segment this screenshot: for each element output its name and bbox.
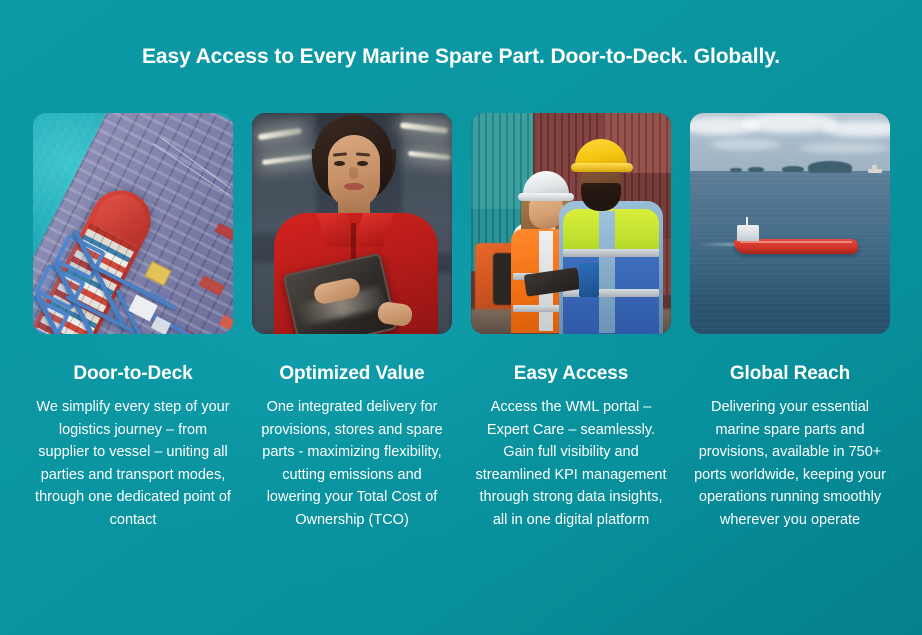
card-title: Easy Access	[514, 362, 628, 386]
card-body: One integrated delivery for provisions, …	[254, 396, 450, 531]
card-body: We simplify every step of your logistics…	[35, 396, 231, 531]
woman-with-tablet-image	[252, 113, 452, 334]
card-body: Access the WML portal – Expert Care – se…	[473, 396, 669, 531]
card-title: Global Reach	[730, 362, 850, 386]
feature-card: Optimized Value One integrated delivery …	[252, 113, 452, 531]
page-title: Easy Access to Every Marine Spare Part. …	[0, 43, 922, 71]
feature-section: Easy Access to Every Marine Spare Part. …	[0, 0, 922, 635]
feature-card: Easy Access Access the WML portal – Expe…	[471, 113, 671, 531]
card-title: Door-to-Deck	[73, 362, 192, 386]
card-title: Optimized Value	[279, 362, 424, 386]
card-body: Delivering your essential marine spare p…	[692, 396, 888, 531]
feature-card: Global Reach Delivering your essential m…	[690, 113, 890, 531]
feature-card-grid: Door-to-Deck We simplify every step of y…	[33, 113, 890, 531]
aerial-container-ship-at-port-image	[33, 113, 233, 334]
feature-card: Door-to-Deck We simplify every step of y…	[33, 113, 233, 531]
port-workers-image	[471, 113, 671, 334]
tanker-at-sea-image	[690, 113, 890, 334]
